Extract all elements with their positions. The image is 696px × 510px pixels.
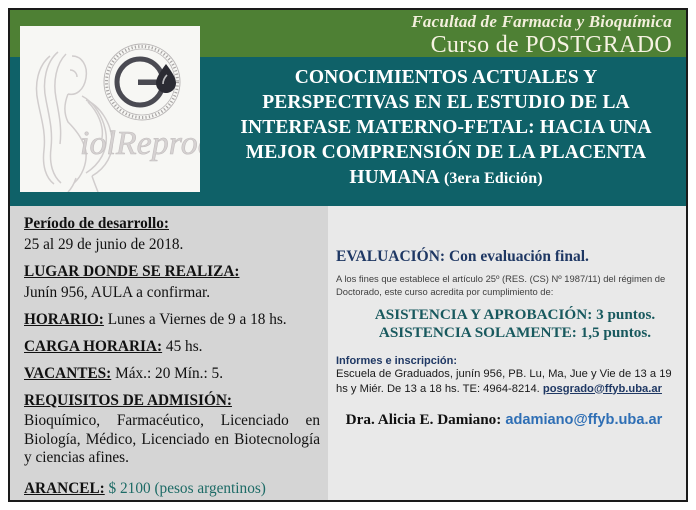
asistencia-aprobacion: ASISTENCIA Y APROBACIÓN: 3 puntos. [336, 306, 680, 324]
evaluacion-fine-print: A los fines que establece el artículo 25… [336, 272, 674, 298]
lugar-label: LUGAR DONDE SE REALIZA: [24, 263, 239, 280]
faculty-name: Facultad de Farmacia y Bioquímica [411, 12, 672, 32]
informes-text-block: Escuela de Graduados, junín 956, PB. Lu,… [336, 367, 678, 396]
evaluacion-title: EVALUACIÓN: Con evaluación final. [336, 248, 680, 266]
vacantes-row: VACANTES: Máx.: 20 Mín.: 5. [24, 364, 320, 383]
course-kind: Curso de POSTGRADO [431, 32, 672, 59]
horario-value: Lunes a Viernes de 9 a 18 hs. [104, 311, 287, 328]
informes-label: Informes e inscripción: [336, 355, 680, 367]
arancel-value: $ 2100 (pesos argentinos) [105, 480, 266, 497]
carga-horaria-row: CARGA HORARIA: 45 hs. [24, 337, 320, 356]
requisitos-label: REQUISITOS DE ADMISIÓN: [24, 392, 232, 409]
periodo-value: 25 al 29 de junio de 2018. [24, 235, 320, 254]
course-flyer: iolReprod Facultad de Farmacia y Bioquím… [0, 0, 696, 510]
course-title-line-4: MEJOR COMPRENSIÓN DE LA PLACENTA [210, 140, 682, 165]
contact-email-link[interactable]: adamiano@ffyb.uba.ar [505, 412, 662, 428]
course-edition: (3era Edición) [440, 170, 543, 187]
logo-artwork: iolReprod [20, 26, 200, 192]
requisitos-label-row: REQUISITOS DE ADMISIÓN: [24, 391, 320, 410]
carga-horaria-value: 45 hs. [162, 338, 202, 355]
periodo-label-row: Período de desarrollo: [24, 214, 320, 233]
lugar-value: Junín 956, AULA a confirmar. [24, 283, 320, 302]
course-title-line-5: HUMANA (3era Edición) [210, 165, 682, 191]
course-title-line-2: PERSPECTIVAS EN EL ESTUDIO DE LA [210, 90, 682, 115]
contact-name: Dra. Alicia E. Damiano: [346, 411, 502, 428]
arancel-row: ARANCEL: $ 2100 (pesos argentinos) [24, 479, 320, 498]
carga-horaria-label: CARGA HORARIA: [24, 338, 162, 355]
posgrado-email-link[interactable]: posgrado@ffyb.uba.ar [543, 383, 662, 395]
asistencia-solamente: ASISTENCIA SOLAMENTE: 1,5 puntos. [336, 324, 680, 342]
horario-row: HORARIO: Lunes a Viernes de 9 a 18 hs. [24, 310, 320, 329]
periodo-label: Período de desarrollo: [24, 215, 169, 232]
course-title-last-main: HUMANA [349, 167, 440, 188]
evaluation-panel: EVALUACIÓN: Con evaluación final. A los … [328, 206, 686, 500]
contact-row: Dra. Alicia E. Damiano: adamiano@ffyb.ub… [336, 411, 680, 429]
course-title-line-1: CONOCIMIENTOS ACTUALES Y [210, 65, 682, 90]
requisitos-value: Bioquímico, Farmacéutico, Licenciado en … [24, 412, 320, 468]
details-panel: Período de desarrollo: 25 al 29 de junio… [10, 206, 328, 500]
logo-wordmark: iolReprod [80, 125, 200, 162]
course-title: CONOCIMIENTOS ACTUALES Y PERSPECTIVAS EN… [210, 65, 682, 191]
lugar-label-row: LUGAR DONDE SE REALIZA: [24, 262, 320, 281]
biolreprod-logo: iolReprod [20, 26, 200, 192]
course-title-line-3: INTERFASE MATERNO-FETAL: HACIA UNA [210, 115, 682, 140]
arancel-label: ARANCEL: [24, 480, 105, 497]
vacantes-value: Máx.: 20 Mín.: 5. [111, 365, 223, 382]
vacantes-label: VACANTES: [24, 365, 111, 382]
horario-label: HORARIO: [24, 311, 104, 328]
header-banner: iolReprod Facultad de Farmacia y Bioquím… [10, 10, 686, 206]
